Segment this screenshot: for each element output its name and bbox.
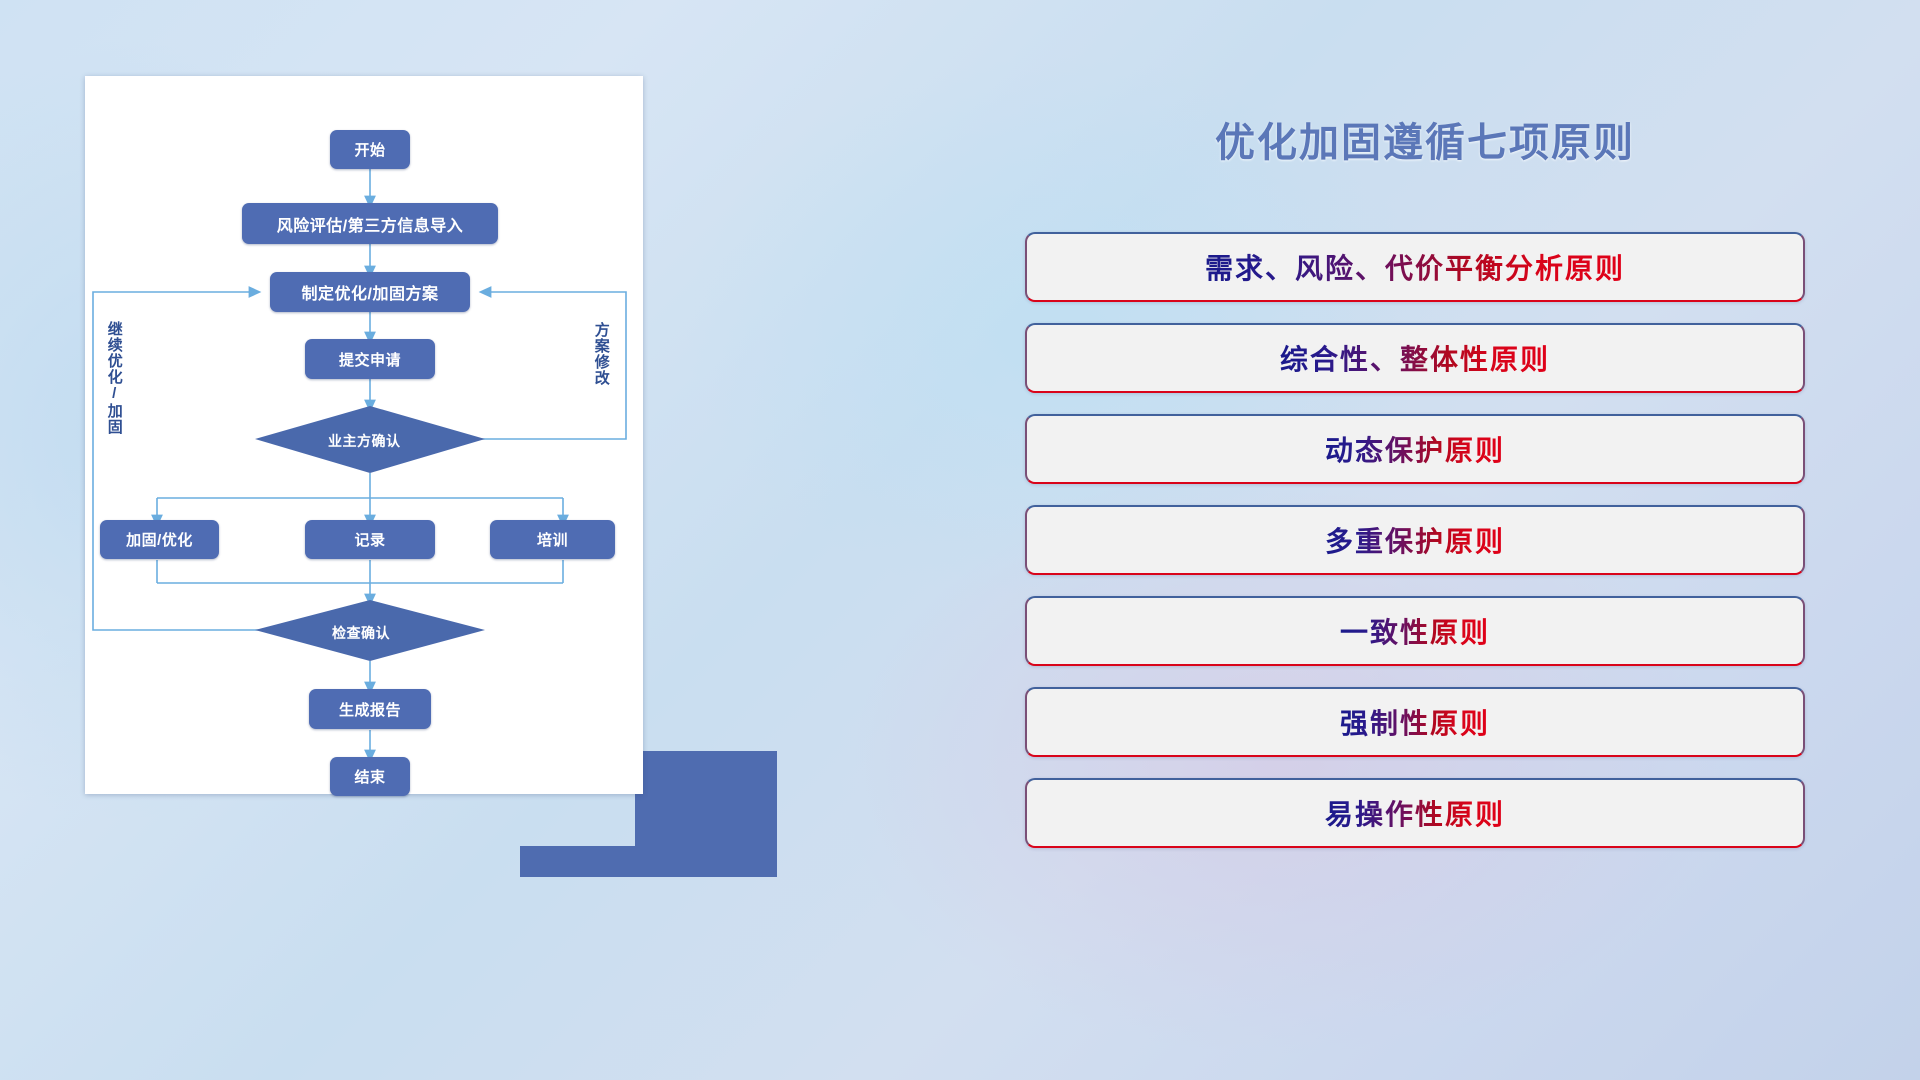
flow-node-check-confirm-label: 检查确认 — [332, 623, 390, 643]
flow-node-plan[interactable]: 制定优化/加固方案 — [270, 272, 470, 312]
principle-label: 强制性原则 — [1340, 702, 1490, 742]
edge-label-continue-optimize: 继续优化/加固 — [106, 321, 122, 435]
edge-label-plan-revision: 方案修改 — [593, 322, 609, 386]
flow-node-training[interactable]: 培训 — [490, 520, 615, 559]
flow-node-risk-assessment[interactable]: 风险评估/第三方信息导入 — [242, 203, 498, 244]
principle-label: 易操作性原则 — [1325, 793, 1505, 833]
flow-node-start[interactable]: 开始 — [330, 130, 410, 169]
principle-item-6[interactable]: 强制性原则 — [1025, 687, 1805, 757]
principle-item-2[interactable]: 综合性、整体性原则 — [1025, 323, 1805, 393]
principle-label: 综合性、整体性原则 — [1280, 338, 1550, 378]
principles-panel: 优化加固遵循七项原则 需求、风险、代价平衡分析原则 综合性、整体性原则 动态保护… — [1020, 80, 1830, 1020]
accent-block-horizontal — [520, 846, 777, 877]
principle-item-7[interactable]: 易操作性原则 — [1025, 778, 1805, 848]
flow-node-submit-application[interactable]: 提交申请 — [305, 339, 435, 379]
principle-item-5[interactable]: 一致性原则 — [1025, 596, 1805, 666]
flow-node-record[interactable]: 记录 — [305, 520, 435, 559]
flow-node-end[interactable]: 结束 — [330, 757, 410, 796]
principles-title: 优化加固遵循七项原则 — [1020, 110, 1830, 168]
principle-label: 动态保护原则 — [1325, 429, 1505, 469]
flowchart-card: 开始 风险评估/第三方信息导入 制定优化/加固方案 提交申请 业主方确认 加固/… — [85, 76, 643, 794]
principle-label: 一致性原则 — [1340, 611, 1490, 651]
principle-item-1[interactable]: 需求、风险、代价平衡分析原则 — [1025, 232, 1805, 302]
principle-item-3[interactable]: 动态保护原则 — [1025, 414, 1805, 484]
flow-node-reinforce[interactable]: 加固/优化 — [100, 520, 219, 559]
principle-label: 多重保护原则 — [1325, 520, 1505, 560]
flowchart-panel: 开始 风险评估/第三方信息导入 制定优化/加固方案 提交申请 业主方确认 加固/… — [85, 76, 645, 798]
flow-node-owner-confirm-label: 业主方确认 — [328, 431, 401, 451]
flow-node-generate-report[interactable]: 生成报告 — [309, 689, 431, 729]
principle-label: 需求、风险、代价平衡分析原则 — [1205, 247, 1625, 287]
slide-root: 开始 风险评估/第三方信息导入 制定优化/加固方案 提交申请 业主方确认 加固/… — [0, 0, 1920, 1080]
principle-item-4[interactable]: 多重保护原则 — [1025, 505, 1805, 575]
